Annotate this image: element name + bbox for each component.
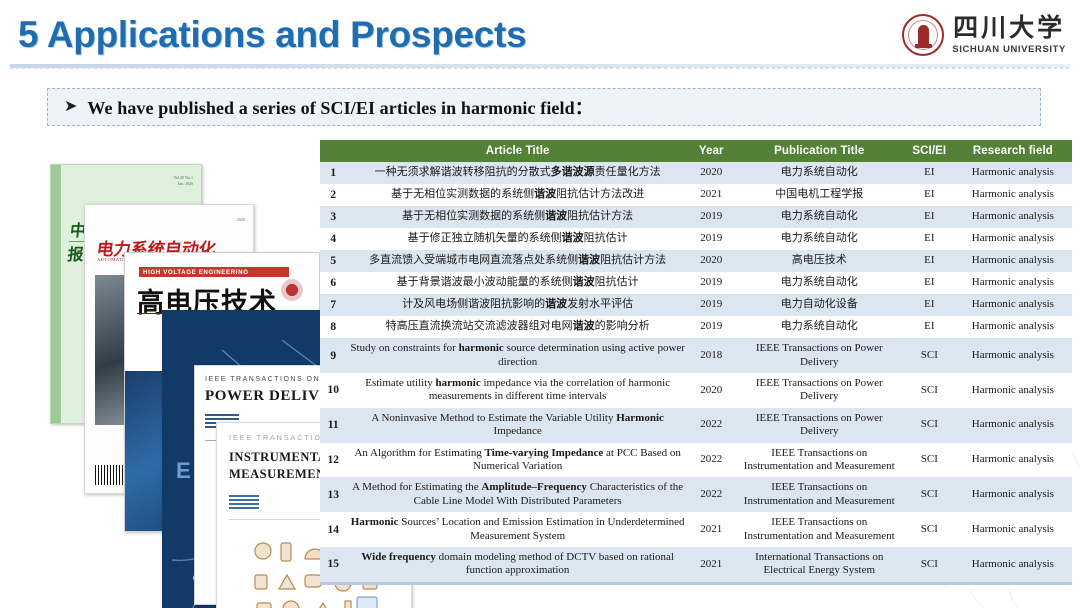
- cell-research-field: Harmonic analysis: [954, 272, 1072, 294]
- cell-article-title: A Method for Estimating the Amplitude–Fr…: [346, 477, 688, 512]
- cell-sci-ei: EI: [905, 272, 954, 294]
- cell-index: 11: [320, 408, 346, 443]
- cell-publication: 高电压技术: [734, 250, 905, 272]
- cell-year: 2020: [689, 162, 734, 184]
- cell-research-field: Harmonic analysis: [954, 512, 1072, 547]
- table-row: 2基于无相位实测数据的系统侧谐波阻抗估计方法改进2021中国电机工程学报EIHa…: [320, 184, 1072, 206]
- cell-research-field: Harmonic analysis: [954, 184, 1072, 206]
- table-row: 15Wide frequency domain modeling method …: [320, 547, 1072, 582]
- cell-sci-ei: SCI: [905, 443, 954, 478]
- cell-year: 2022: [689, 477, 734, 512]
- cell-index: 4: [320, 228, 346, 250]
- cell-article-title: 基于修正独立随机矢量的系统侧谐波阻抗估计: [346, 228, 688, 250]
- cell-article-title: 基于背景谐波最小波动能量的系统侧谐波阻抗估计: [346, 272, 688, 294]
- cell-sci-ei: EI: [905, 250, 954, 272]
- cover-seal-icon: [281, 279, 303, 301]
- journal-cover-stack: Vol.40 No.1Jan. 2020 中国电机工程学报 2020 电力系统自…: [44, 160, 324, 600]
- cell-year: 2021: [689, 184, 734, 206]
- cell-year: 2019: [689, 316, 734, 338]
- cell-research-field: Harmonic analysis: [954, 443, 1072, 478]
- table-row: 4基于修正独立随机矢量的系统侧谐波阻抗估计2019电力系统自动化EIHarmon…: [320, 228, 1072, 250]
- cell-index: 10: [320, 373, 346, 408]
- cell-sci-ei: SCI: [905, 373, 954, 408]
- cell-sci-ei: SCI: [905, 547, 954, 582]
- cell-research-field: Harmonic analysis: [954, 316, 1072, 338]
- cell-index: 5: [320, 250, 346, 272]
- table-bottom-border: [320, 582, 1072, 585]
- table-row: 6基于背景谐波最小波动能量的系统侧谐波阻抗估计2019电力系统自动化EIHarm…: [320, 272, 1072, 294]
- table-row: 10Estimate utility harmonic impedance vi…: [320, 373, 1072, 408]
- cell-research-field: Harmonic analysis: [954, 408, 1072, 443]
- cell-index: 1: [320, 162, 346, 184]
- cell-index: 9: [320, 338, 346, 373]
- cell-research-field: Harmonic analysis: [954, 547, 1072, 582]
- cell-article-title: 一种无须求解谐波转移阻抗的分散式多谐波源责任量化方法: [346, 162, 688, 184]
- table-row: 5多直流馈入受端城市电网直流落点处系统侧谐波阻抗估计方法2020高电压技术EIH…: [320, 250, 1072, 272]
- cell-year: 2019: [689, 228, 734, 250]
- cell-sci-ei: SCI: [905, 512, 954, 547]
- table-row: 7计及风电场侧谐波阻抗影响的谐波发射水平评估2019电力自动化设备EIHarmo…: [320, 294, 1072, 316]
- ieee-ims-logo-icon: [229, 495, 259, 509]
- logo-name-en: SICHUAN UNIVERSITY: [952, 44, 1066, 55]
- table-row: 14Harmonic Sources’ Location and Emissio…: [320, 512, 1072, 547]
- cell-index: 2: [320, 184, 346, 206]
- cell-sci-ei: EI: [905, 184, 954, 206]
- cell-index: 3: [320, 206, 346, 228]
- cell-year: 2019: [689, 294, 734, 316]
- cell-year: 2018: [689, 338, 734, 373]
- cell-publication: 电力系统自动化: [734, 162, 905, 184]
- table-body: 1一种无须求解谐波转移阻抗的分散式多谐波源责任量化方法2020电力系统自动化EI…: [320, 162, 1072, 582]
- table-row: 12An Algorithm for Estimating Time-varyi…: [320, 443, 1072, 478]
- cell-publication: IEEE Transactions on Instrumentation and…: [734, 512, 905, 547]
- table-row: 8特高压直流换流站交流滤波器组对电网谐波的影响分析2019电力系统自动化EIHa…: [320, 316, 1072, 338]
- cell-research-field: Harmonic analysis: [954, 250, 1072, 272]
- page-title: 5 Applications and Prospects: [18, 14, 526, 56]
- cell-publication: International Transactions on Electrical…: [734, 547, 905, 582]
- cell-publication: 电力系统自动化: [734, 206, 905, 228]
- cell-publication: 电力系统自动化: [734, 272, 905, 294]
- subtitle-text: We have published a series of SCI/EI art…: [87, 94, 592, 120]
- cell-publication: 电力系统自动化: [734, 316, 905, 338]
- cell-article-title: A Noninvasive Method to Estimate the Var…: [346, 408, 688, 443]
- cell-article-title: 计及风电场侧谐波阻抗影响的谐波发射水平评估: [346, 294, 688, 316]
- cell-publication: IEEE Transactions on Power Delivery: [734, 338, 905, 373]
- cell-article-title: 特高压直流换流站交流滤波器组对电网谐波的影响分析: [346, 316, 688, 338]
- cell-index: 7: [320, 294, 346, 316]
- cover-line1: IEEE TRANSACTIONS ON: [205, 376, 320, 383]
- cell-publication: IEEE Transactions on Power Delivery: [734, 373, 905, 408]
- table-row: 3基于无相位实测数据的系统侧谐波阻抗估计方法2019电力系统自动化EIHarmo…: [320, 206, 1072, 228]
- cell-publication: IEEE Transactions on Instrumentation and…: [734, 443, 905, 478]
- logo-name-cn: 四川大学: [953, 16, 1065, 41]
- cell-sci-ei: SCI: [905, 338, 954, 373]
- table-header-row: Article Title Year Publication Title SCI…: [320, 140, 1072, 162]
- cell-article-title: 基于无相位实测数据的系统侧谐波阻抗估计方法: [346, 206, 688, 228]
- column-header-sci-ei: SCI/EI: [905, 140, 954, 162]
- cell-article-title: Estimate utility harmonic impedance via …: [346, 373, 688, 408]
- cell-sci-ei: EI: [905, 294, 954, 316]
- cell-sci-ei: SCI: [905, 477, 954, 512]
- bullet-arrow-icon: ➤: [64, 99, 77, 115]
- column-header-article-title: Article Title: [346, 140, 688, 162]
- slide: 5 Applications and Prospects 四川大学 SICHUA…: [0, 0, 1080, 608]
- cell-sci-ei: EI: [905, 228, 954, 250]
- cell-sci-ei: EI: [905, 316, 954, 338]
- cell-year: 2019: [689, 206, 734, 228]
- cell-year: 2019: [689, 272, 734, 294]
- cell-publication: 电力系统自动化: [734, 228, 905, 250]
- cell-index: 14: [320, 512, 346, 547]
- cell-year: 2022: [689, 408, 734, 443]
- cell-research-field: Harmonic analysis: [954, 338, 1072, 373]
- cell-index: 8: [320, 316, 346, 338]
- cell-research-field: Harmonic analysis: [954, 206, 1072, 228]
- subtitle-callout: ➤ We have published a series of SCI/EI a…: [47, 88, 1041, 126]
- cell-year: 2020: [689, 373, 734, 408]
- articles-table: Article Title Year Publication Title SCI…: [320, 140, 1072, 582]
- column-header-index: [320, 140, 346, 162]
- university-logo: 四川大学 SICHUAN UNIVERSITY: [902, 14, 1066, 56]
- cell-article-title: 多直流馈入受端城市电网直流落点处系统侧谐波阻抗估计方法: [346, 250, 688, 272]
- cell-article-title: An Algorithm for Estimating Time-varying…: [346, 443, 688, 478]
- column-header-year: Year: [689, 140, 734, 162]
- table-row: 11A Noninvasive Method to Estimate the V…: [320, 408, 1072, 443]
- column-header-research-field: Research field: [954, 140, 1072, 162]
- cell-index: 6: [320, 272, 346, 294]
- cell-publication: IEEE Transactions on Instrumentation and…: [734, 477, 905, 512]
- cell-year: 2020: [689, 250, 734, 272]
- cell-index: 15: [320, 547, 346, 582]
- cell-article-title: 基于无相位实测数据的系统侧谐波阻抗估计方法改进: [346, 184, 688, 206]
- cell-year: 2021: [689, 547, 734, 582]
- cell-article-title: Study on constraints for harmonic source…: [346, 338, 688, 373]
- cell-index: 12: [320, 443, 346, 478]
- cell-sci-ei: EI: [905, 162, 954, 184]
- table-row: 1一种无须求解谐波转移阻抗的分散式多谐波源责任量化方法2020电力系统自动化EI…: [320, 162, 1072, 184]
- cell-year: 2021: [689, 512, 734, 547]
- table-row: 9Study on constraints for harmonic sourc…: [320, 338, 1072, 373]
- cell-research-field: Harmonic analysis: [954, 373, 1072, 408]
- cell-research-field: Harmonic analysis: [954, 228, 1072, 250]
- cell-sci-ei: EI: [905, 206, 954, 228]
- cell-research-field: Harmonic analysis: [954, 477, 1072, 512]
- column-header-publication-title: Publication Title: [734, 140, 905, 162]
- cell-research-field: Harmonic analysis: [954, 294, 1072, 316]
- cell-publication: 中国电机工程学报: [734, 184, 905, 206]
- cell-index: 13: [320, 477, 346, 512]
- sichuan-university-seal-icon: [902, 14, 944, 56]
- cell-article-title: Harmonic Sources’ Location and Emission …: [346, 512, 688, 547]
- cover-title-en: HIGH VOLTAGE ENGINEERING: [143, 269, 249, 276]
- articles-table-wrapper: Article Title Year Publication Title SCI…: [320, 140, 1072, 585]
- cell-publication: 电力自动化设备: [734, 294, 905, 316]
- title-divider: [10, 64, 1070, 68]
- cell-publication: IEEE Transactions on Power Delivery: [734, 408, 905, 443]
- cell-year: 2022: [689, 443, 734, 478]
- cell-research-field: Harmonic analysis: [954, 162, 1072, 184]
- cell-sci-ei: SCI: [905, 408, 954, 443]
- cell-article-title: Wide frequency domain modeling method of…: [346, 547, 688, 582]
- table-row: 13A Method for Estimating the Amplitude–…: [320, 477, 1072, 512]
